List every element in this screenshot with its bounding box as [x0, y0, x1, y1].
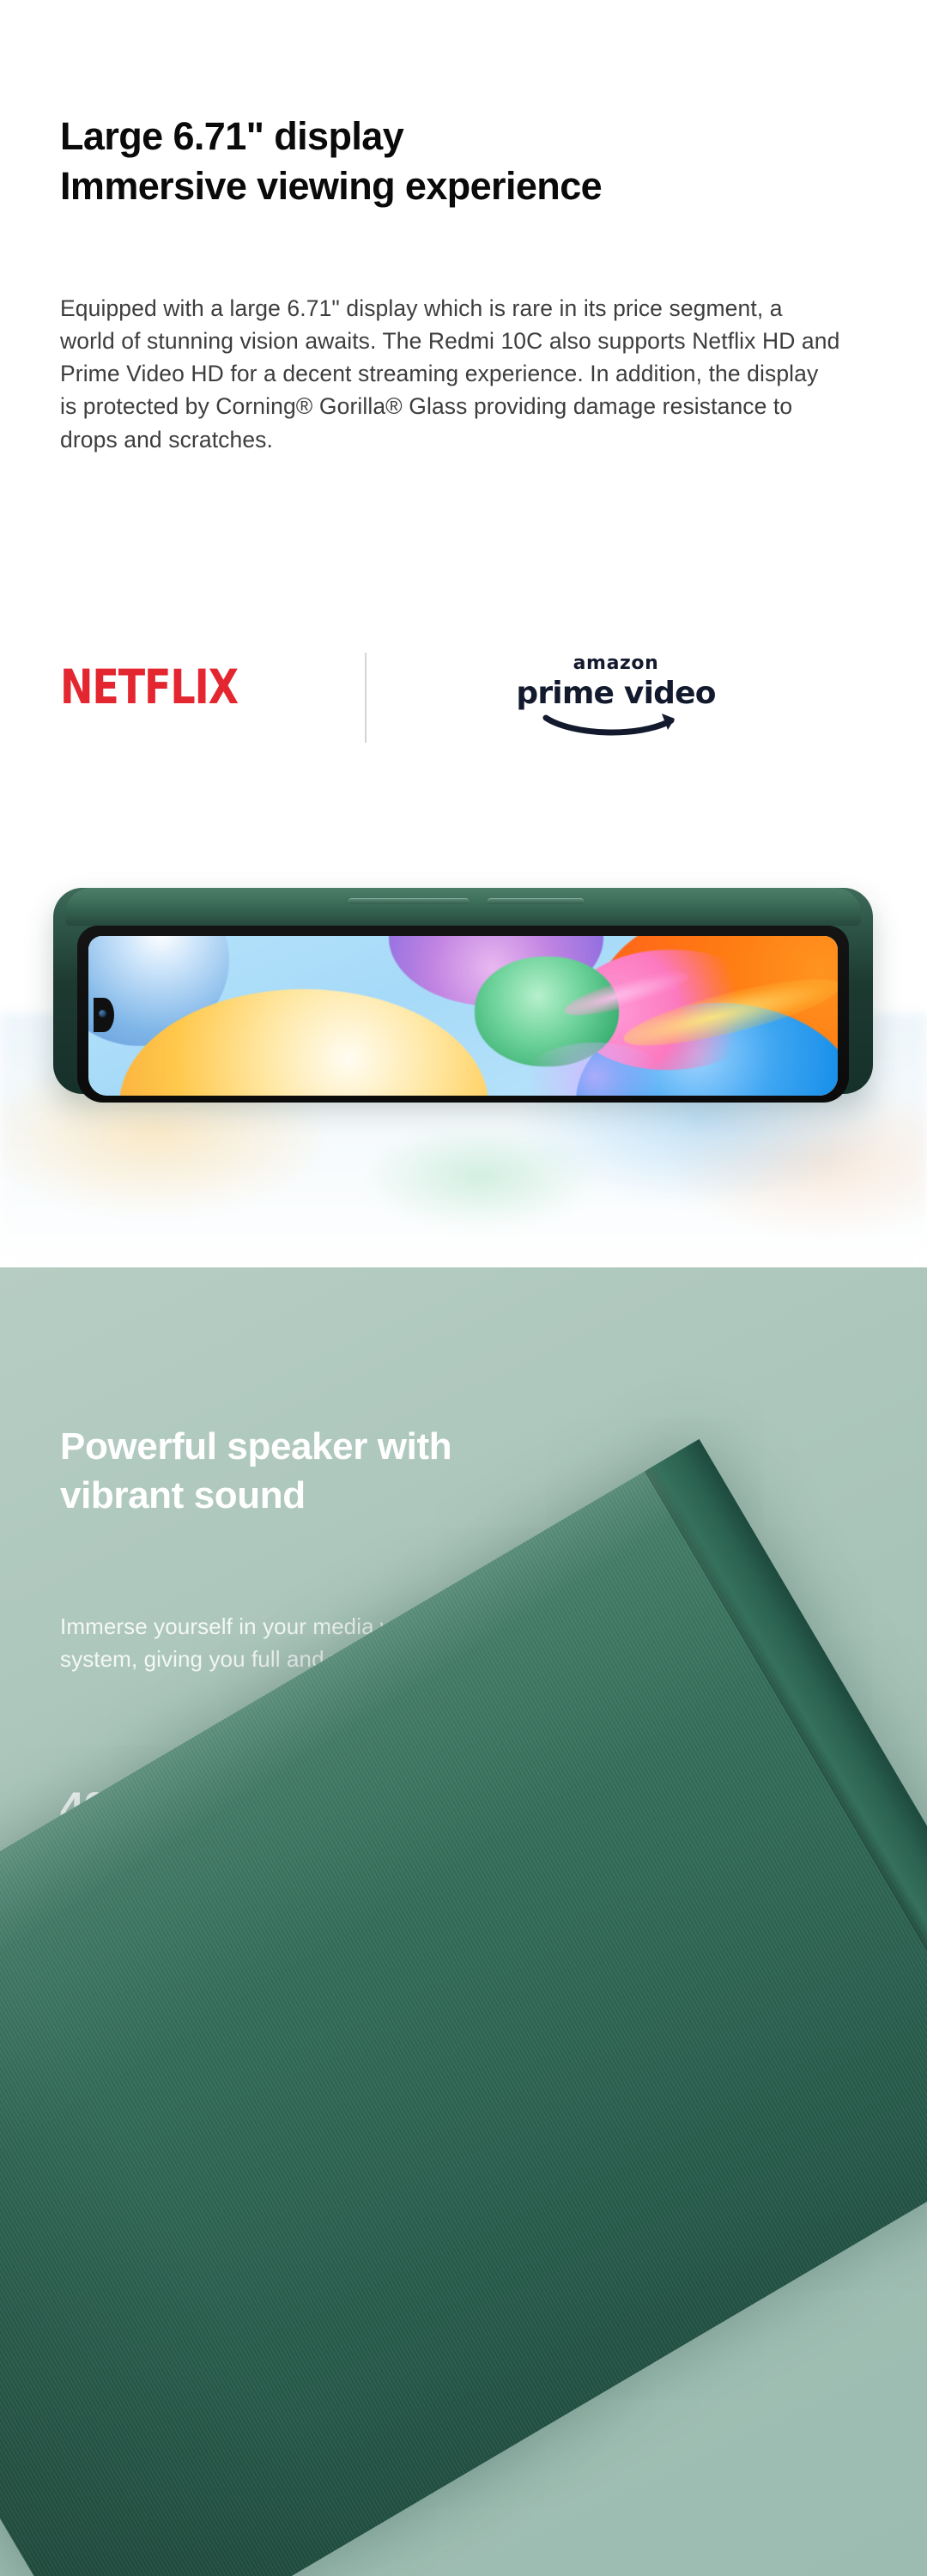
phone-chassis — [53, 888, 873, 1094]
prime-video-wordmark: prime video — [506, 676, 725, 711]
amazon-prime-video-logo: amazon prime video — [506, 653, 725, 745]
phone-top-edge — [65, 888, 861, 926]
phone-back-panel — [0, 1439, 927, 2576]
display-section-body-text: Equipped with a large 6.71" display whic… — [60, 292, 841, 456]
headline-line-1: Large 6.71" display — [60, 112, 884, 161]
front-camera-notch-icon — [94, 998, 114, 1032]
redmi-10c-front-image — [53, 876, 873, 1099]
volume-button — [348, 898, 469, 904]
power-button — [488, 898, 584, 904]
logo-divider — [365, 653, 367, 743]
speaker-feature-section: Powerful speaker with vibrant sound Imme… — [0, 1267, 927, 2576]
phone-screen — [88, 936, 838, 1096]
headline-line-2: Immersive viewing experience — [60, 161, 884, 211]
netflix-logo: NETFLIX — [60, 660, 238, 715]
phone-bezel — [77, 926, 849, 1103]
display-feature-section: Large 6.71" display Immersive viewing ex… — [0, 0, 927, 1267]
streaming-partner-logos: NETFLIX amazon prime video — [60, 653, 833, 747]
display-section-headline: Large 6.71" display Immersive viewing ex… — [60, 112, 884, 210]
amazon-wordmark: amazon — [506, 653, 725, 674]
amazon-smile-arrow-icon — [542, 712, 690, 738]
redmi-10c-back-image — [0, 1439, 927, 2576]
